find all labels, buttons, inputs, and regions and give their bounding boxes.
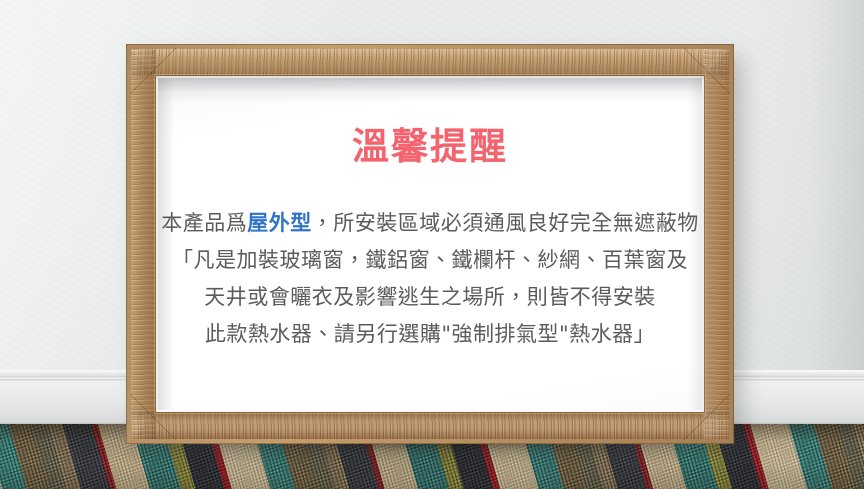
wall-corner-shadow <box>744 0 864 382</box>
poster-body-line: 「凡是加裝玻璃窗，鐵鋁窗、鐵欄杆、紗網、百葉窗及 <box>158 242 702 279</box>
poster-text-segment: 此款熱水器、請另行選購"強制排氣型"熱水器」 <box>205 322 655 346</box>
poster: 溫馨提醒 本產品爲屋外型，所安裝區域必須通風良好完全無遮蔽物「凡是加裝玻璃窗，鐵… <box>158 78 702 410</box>
poster-content: 溫馨提醒 本產品爲屋外型，所安裝區域必須通風良好完全無遮蔽物「凡是加裝玻璃窗，鐵… <box>158 78 702 410</box>
poster-highlight-text: 屋外型 <box>247 211 312 235</box>
poster-body-line: 天井或會曬衣及影響逃生之場所，則皆不得安裝 <box>158 279 702 316</box>
poster-body-line: 本產品爲屋外型，所安裝區域必須通風良好完全無遮蔽物 <box>158 205 702 242</box>
poster-title: 溫馨提醒 <box>352 128 508 165</box>
poster-text-segment: 「凡是加裝玻璃窗，鐵鋁窗、鐵欄杆、紗網、百葉窗及 <box>172 248 688 272</box>
picture-frame: 溫馨提醒 本產品爲屋外型，所安裝區域必須通風良好完全無遮蔽物「凡是加裝玻璃窗，鐵… <box>126 44 734 444</box>
poster-text-segment: ，所安裝區域必須通風良好完全無遮蔽物 <box>312 211 699 235</box>
poster-body-line: 此款熱水器、請另行選購"強制排氣型"熱水器」 <box>158 316 702 353</box>
poster-text-segment: 本產品爲 <box>161 211 247 235</box>
poster-text-segment: 天井或會曬衣及影響逃生之場所，則皆不得安裝 <box>204 285 656 309</box>
room-scene: 溫馨提醒 本產品爲屋外型，所安裝區域必須通風良好完全無遮蔽物「凡是加裝玻璃窗，鐵… <box>0 0 864 489</box>
poster-body: 本產品爲屋外型，所安裝區域必須通風良好完全無遮蔽物「凡是加裝玻璃窗，鐵鋁窗、鐵欄… <box>158 205 702 353</box>
